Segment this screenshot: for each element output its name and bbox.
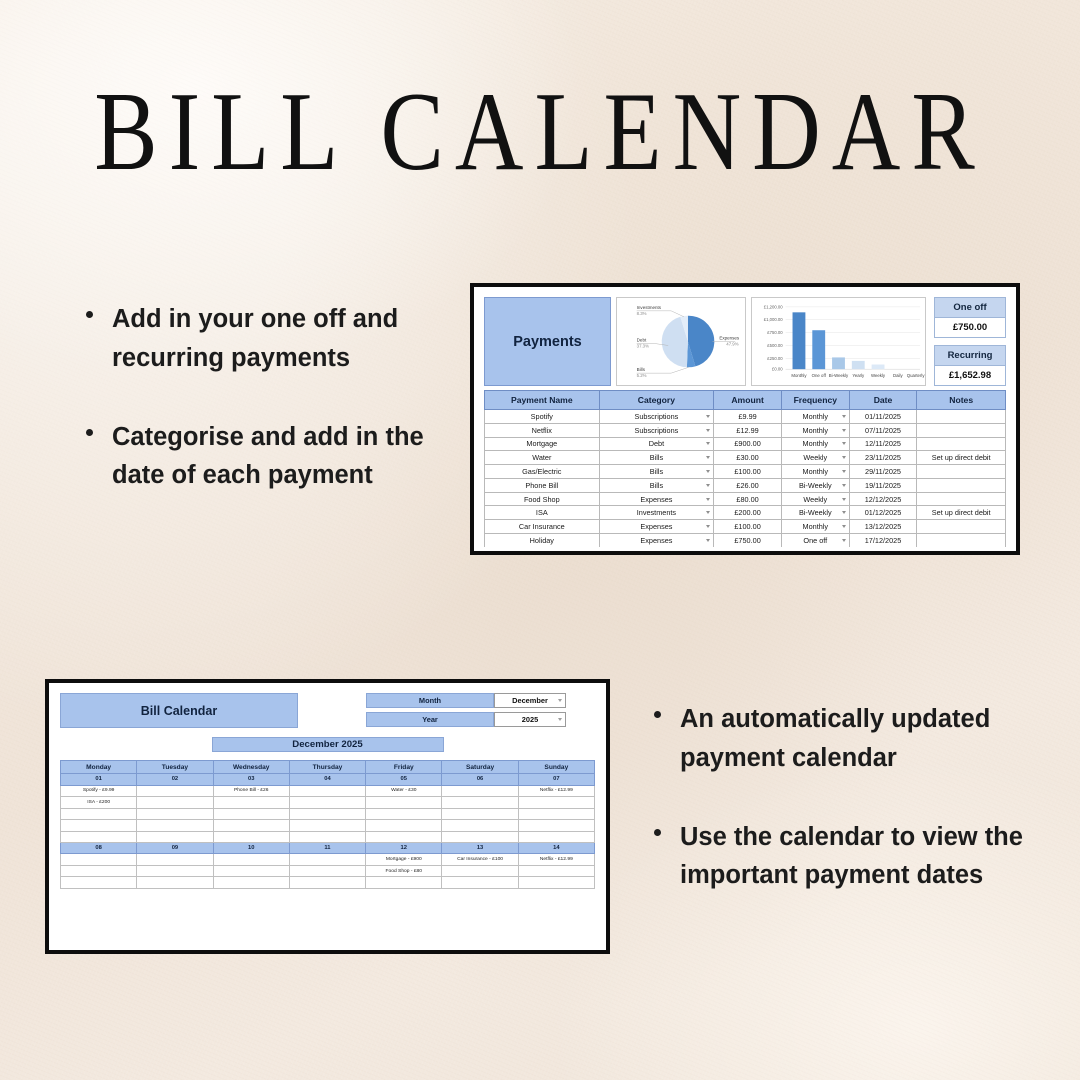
calendar-day-number: 03 (213, 774, 289, 785)
calendar-event-cell[interactable] (289, 865, 365, 877)
calendar-event-row: Spotify - £9.99Phone Bill - £26Water - £… (61, 785, 595, 797)
cell-frequency[interactable]: Monthly (781, 410, 849, 424)
calendar-event-cell[interactable] (366, 831, 442, 843)
payments-pie-chart: Investments 8.3% Debt 37.3% Bills 5.2% E… (616, 297, 746, 386)
kpi-recurring: Recurring £1,652.98 (934, 345, 1006, 386)
calendar-event-cell[interactable] (442, 877, 518, 889)
calendar-day-number: 02 (137, 774, 213, 785)
cell-notes[interactable] (917, 478, 1006, 492)
cell-amount[interactable]: £750.00 (714, 534, 782, 547)
pie-label-investments: Investments (637, 305, 662, 310)
calendar-event-cell[interactable]: ISA - £200 (61, 797, 137, 809)
year-selector-label: Year (366, 712, 494, 727)
calendar-event-cell[interactable] (366, 808, 442, 820)
year-selector[interactable]: Year 2025 (366, 712, 566, 727)
weekday-monday: Monday (61, 761, 137, 774)
calendar-event-cell[interactable] (518, 820, 594, 832)
year-selector-value[interactable]: 2025 (494, 712, 566, 727)
cell-frequency[interactable]: Monthly (781, 520, 849, 534)
weekday-sunday: Sunday (518, 761, 594, 774)
table-row: NetflixSubscriptions£12.99Monthly07/11/2… (485, 423, 1006, 437)
table-row: WaterBills£30.00Weekly23/11/2025Set up d… (485, 451, 1006, 465)
cell-amount[interactable]: £80.00 (714, 492, 782, 506)
cell-category[interactable]: Investments (599, 506, 714, 520)
calendar-event-cell[interactable]: Water - £30 (366, 785, 442, 797)
calendar-event-cell[interactable] (213, 797, 289, 809)
cell-frequency[interactable]: Bi-Weekly (781, 478, 849, 492)
calendar-event-cell[interactable] (137, 797, 213, 809)
calendar-event-row (61, 877, 595, 889)
calendar-event-cell[interactable] (61, 808, 137, 820)
bar-xtick: Daily (893, 373, 903, 378)
cell-payment-name[interactable]: Water (485, 451, 600, 465)
bar-ytick: £500.00 (767, 343, 783, 348)
calendar-event-cell[interactable] (442, 820, 518, 832)
feature-list-right: An automatically updated payment calenda… (648, 700, 1048, 935)
cell-category[interactable]: Expenses (599, 520, 714, 534)
cell-payment-name[interactable]: Netflix (485, 423, 600, 437)
calendar-event-cell[interactable]: Phone Bill - £26 (213, 785, 289, 797)
calendar-day-number: 13 (442, 843, 518, 854)
calendar-event-cell[interactable] (137, 854, 213, 866)
calendar-event-cell[interactable] (442, 808, 518, 820)
cell-category[interactable]: Subscriptions (599, 410, 714, 424)
cell-category[interactable]: Expenses (599, 492, 714, 506)
calendar-event-cell[interactable] (61, 854, 137, 866)
calendar-daynum-row: 08091011121314 (61, 843, 595, 854)
calendar-event-cell[interactable] (518, 831, 594, 843)
bullet-item: Use the calendar to view the important p… (648, 818, 1048, 896)
calendar-event-cell[interactable] (366, 797, 442, 809)
calendar-event-cell[interactable] (442, 785, 518, 797)
calendar-event-cell[interactable]: Spotify - £9.99 (61, 785, 137, 797)
calendar-day-number: 08 (61, 843, 137, 854)
calendar-event-cell[interactable] (442, 831, 518, 843)
calendar-day-number: 12 (366, 843, 442, 854)
cell-amount[interactable]: £12.99 (714, 423, 782, 437)
cell-amount[interactable]: £100.00 (714, 520, 782, 534)
calendar-event-cell[interactable] (366, 877, 442, 889)
payments-title-cell: Payments (484, 297, 611, 386)
cell-payment-name[interactable]: Spotify (485, 410, 600, 424)
calendar-event-cell[interactable]: Netflix - £12.99 (518, 785, 594, 797)
bar-xtick: Bi-Weekly (829, 373, 849, 378)
bar-xtick: Yearly (852, 373, 865, 378)
calendar-event-row: ISA - £200 (61, 797, 595, 809)
calendar-event-row: Mortgage - £900Car Insurance - £100Netfl… (61, 854, 595, 866)
column-header-date[interactable]: Date (849, 391, 917, 410)
cell-frequency[interactable]: Monthly (781, 423, 849, 437)
cell-notes[interactable] (917, 423, 1006, 437)
pie-label-expenses: Expenses (719, 336, 740, 341)
cell-frequency[interactable]: One off (781, 534, 849, 547)
cell-notes[interactable]: Set up direct debit (917, 506, 1006, 520)
month-selector-label: Month (366, 693, 494, 708)
bar-xtick: Quarterly (907, 373, 925, 378)
cell-notes[interactable] (917, 465, 1006, 479)
kpi-recurring-label: Recurring (935, 346, 1005, 366)
cell-payment-name[interactable]: Holiday (485, 534, 600, 547)
pie-label-debt: Debt (637, 337, 647, 342)
cell-payment-name[interactable]: Food Shop (485, 492, 600, 506)
pie-pct-bills: 5.2% (637, 373, 647, 378)
cell-date[interactable]: 29/11/2025 (849, 465, 917, 479)
cell-date[interactable]: 17/12/2025 (849, 534, 917, 547)
cell-category[interactable]: Expenses (599, 534, 714, 547)
cell-date[interactable]: 12/11/2025 (849, 437, 917, 451)
bar-xtick: One off (812, 373, 827, 378)
weekday-header-row: Monday Tuesday Wednesday Thursday Friday… (61, 761, 595, 774)
table-row: SpotifySubscriptions£9.99Monthly01/11/20… (485, 410, 1006, 424)
column-header-payment-name[interactable]: Payment Name (485, 391, 600, 410)
calendar-event-cell[interactable] (213, 865, 289, 877)
cell-amount[interactable]: £30.00 (714, 451, 782, 465)
pie-label-bills: Bills (637, 367, 646, 372)
calendar-selectors: Month December Year 2025 (366, 693, 566, 727)
bar-xtick: Monthly (791, 373, 807, 378)
kpi-recurring-value: £1,652.98 (935, 366, 1005, 385)
calendar-event-cell[interactable] (518, 865, 594, 877)
table-row: MortgageDebt£900.00Monthly12/11/2025 (485, 437, 1006, 451)
calendar-day-number: 06 (442, 774, 518, 785)
cell-category[interactable]: Bills (599, 478, 714, 492)
calendar-day-number: 11 (289, 843, 365, 854)
payments-kpi-column: One off £750.00 Recurring £1,652.98 (931, 297, 1006, 386)
weekday-friday: Friday (366, 761, 442, 774)
bullet-item: Categorise and add in the date of each p… (80, 418, 480, 496)
payments-spreadsheet-screenshot: Payments I (470, 283, 1020, 555)
page-title: BILL CALENDAR (0, 76, 1080, 188)
calendar-event-cell[interactable] (289, 797, 365, 809)
bar-oneoff (812, 330, 825, 369)
calendar-event-cell[interactable]: Food Shop - £80 (366, 865, 442, 877)
cell-frequency[interactable]: Bi-Weekly (781, 506, 849, 520)
column-header-notes[interactable]: Notes (917, 391, 1006, 410)
bar-ytick: £1,200.00 (764, 304, 784, 309)
bar-weekly (872, 365, 885, 370)
bar-xtick: Weekly (871, 373, 886, 378)
cell-amount[interactable]: £26.00 (714, 478, 782, 492)
bullet-item: An automatically updated payment calenda… (648, 700, 1048, 778)
calendar-event-cell[interactable] (289, 831, 365, 843)
pie-pct-investments: 8.3% (637, 311, 647, 316)
calendar-day-number: 01 (61, 774, 137, 785)
payments-bar-chart: £1,200.00 £1,000.00 £750.00 £500.00 £250… (751, 297, 926, 386)
month-banner: December 2025 (212, 737, 444, 752)
cell-frequency[interactable]: Monthly (781, 465, 849, 479)
weekday-saturday: Saturday (442, 761, 518, 774)
bar-yearly (852, 361, 865, 369)
calendar-event-row (61, 831, 595, 843)
calendar-event-row (61, 808, 595, 820)
cell-notes[interactable]: Set up direct debit (917, 451, 1006, 465)
table-header-row: Payment Name Category Amount Frequency D… (485, 391, 1006, 410)
cell-notes[interactable] (917, 492, 1006, 506)
bar-chart-svg: £1,200.00 £1,000.00 £750.00 £500.00 £250… (752, 298, 925, 385)
cell-category[interactable]: Bills (599, 451, 714, 465)
cell-payment-name[interactable]: Phone Bill (485, 478, 600, 492)
cell-category[interactable]: Debt (599, 437, 714, 451)
calendar-event-cell[interactable] (137, 808, 213, 820)
bar-monthly (793, 312, 806, 369)
calendar-event-cell[interactable] (137, 820, 213, 832)
bar-ytick: £250.00 (767, 356, 783, 361)
calendar-title-cell: Bill Calendar (60, 693, 298, 728)
calendar-event-cell[interactable] (366, 820, 442, 832)
column-header-category[interactable]: Category (599, 391, 714, 410)
month-selector-value[interactable]: December (494, 693, 566, 708)
cell-notes[interactable] (917, 534, 1006, 547)
column-header-frequency[interactable]: Frequency (781, 391, 849, 410)
cell-date[interactable]: 19/11/2025 (849, 478, 917, 492)
pie-chart-svg: Investments 8.3% Debt 37.3% Bills 5.2% E… (617, 298, 745, 385)
calendar-event-cell[interactable] (518, 797, 594, 809)
bar-ytick: £0.00 (772, 367, 783, 372)
cell-date[interactable]: 07/11/2025 (849, 423, 917, 437)
calendar-event-cell[interactable] (137, 865, 213, 877)
cell-date[interactable]: 12/12/2025 (849, 492, 917, 506)
cell-notes[interactable] (917, 520, 1006, 534)
calendar-event-cell[interactable] (137, 831, 213, 843)
calendar-day-number: 10 (213, 843, 289, 854)
cell-date[interactable]: 23/11/2025 (849, 451, 917, 465)
column-header-amount[interactable]: Amount (714, 391, 782, 410)
payments-dashboard-row: Payments I (478, 291, 1012, 390)
cell-notes[interactable] (917, 437, 1006, 451)
cell-frequency[interactable]: Weekly (781, 492, 849, 506)
calendar-event-cell[interactable] (289, 808, 365, 820)
calendar-event-cell[interactable] (213, 854, 289, 866)
kpi-one-off-value: £750.00 (935, 318, 1005, 337)
calendar-day-number: 14 (518, 843, 594, 854)
table-row: HolidayExpenses£750.00One off17/12/2025 (485, 534, 1006, 547)
calendar-event-cell[interactable] (442, 797, 518, 809)
calendar-event-row: Food Shop - £80 (61, 865, 595, 877)
table-row: Gas/ElectricBills£100.00Monthly29/11/202… (485, 465, 1006, 479)
cell-category[interactable]: Subscriptions (599, 423, 714, 437)
pie-pct-debt: 37.3% (637, 343, 649, 348)
calendar-event-cell[interactable] (61, 820, 137, 832)
calendar-event-cell[interactable]: Netflix - £12.99 (518, 854, 594, 866)
cell-amount[interactable]: £100.00 (714, 465, 782, 479)
calendar-event-cell[interactable] (213, 831, 289, 843)
cell-payment-name[interactable]: Car Insurance (485, 520, 600, 534)
table-row: ISAInvestments£200.00Bi-Weekly01/12/2025… (485, 506, 1006, 520)
calendar-daynum-row: 01020304050607 (61, 774, 595, 785)
cell-amount[interactable]: £200.00 (714, 506, 782, 520)
cell-frequency[interactable]: Weekly (781, 451, 849, 465)
cell-amount[interactable]: £9.99 (714, 410, 782, 424)
calendar-event-cell[interactable] (137, 785, 213, 797)
calendar-event-row (61, 820, 595, 832)
calendar-event-cell[interactable] (213, 820, 289, 832)
calendar-event-cell[interactable]: Car Insurance - £100 (442, 854, 518, 866)
calendar-event-cell[interactable] (289, 854, 365, 866)
weekday-wednesday: Wednesday (213, 761, 289, 774)
calendar-event-cell[interactable] (289, 785, 365, 797)
cell-date[interactable]: 13/12/2025 (849, 520, 917, 534)
calendar-event-cell[interactable] (61, 831, 137, 843)
calendar-event-cell[interactable] (442, 865, 518, 877)
table-row: Phone BillBills£26.00Bi-Weekly19/11/2025 (485, 478, 1006, 492)
pie-pct-expenses: 47.9% (726, 341, 738, 346)
calendar-event-cell[interactable] (137, 877, 213, 889)
calendar-event-cell[interactable] (61, 865, 137, 877)
calendar-day-number: 07 (518, 774, 594, 785)
calendar-event-cell[interactable] (213, 808, 289, 820)
calendar-event-cell[interactable] (289, 820, 365, 832)
bar-ytick: £1,000.00 (764, 317, 784, 322)
cell-category[interactable]: Bills (599, 465, 714, 479)
cell-date[interactable]: 01/11/2025 (849, 410, 917, 424)
weekday-thursday: Thursday (289, 761, 365, 774)
calendar-event-cell[interactable] (518, 808, 594, 820)
cell-date[interactable]: 01/12/2025 (849, 506, 917, 520)
kpi-one-off: One off £750.00 (934, 297, 1006, 338)
bar-biweekly (832, 357, 845, 369)
calendar-day-number: 04 (289, 774, 365, 785)
bar-ytick: £750.00 (767, 330, 783, 335)
cell-payment-name[interactable]: Gas/Electric (485, 465, 600, 479)
cell-notes[interactable] (917, 410, 1006, 424)
calendar-event-cell[interactable] (213, 877, 289, 889)
calendar-event-cell[interactable] (61, 877, 137, 889)
bullet-item: Add in your one off and recurring paymen… (80, 300, 480, 378)
month-selector[interactable]: Month December (366, 693, 566, 708)
cell-payment-name[interactable]: ISA (485, 506, 600, 520)
bill-calendar-screenshot: Bill Calendar Month December Year 2025 D… (45, 679, 610, 954)
cell-payment-name[interactable]: Mortgage (485, 437, 600, 451)
table-row: Car InsuranceExpenses£100.00Monthly13/12… (485, 520, 1006, 534)
cell-frequency[interactable]: Monthly (781, 437, 849, 451)
calendar-table: Monday Tuesday Wednesday Thursday Friday… (60, 760, 595, 889)
feature-list-left: Add in your one off and recurring paymen… (80, 300, 480, 535)
table-row: Food ShopExpenses£80.00Weekly12/12/2025 (485, 492, 1006, 506)
calendar-day-number: 05 (366, 774, 442, 785)
calendar-event-cell[interactable] (518, 877, 594, 889)
kpi-one-off-label: One off (935, 298, 1005, 318)
calendar-header: Bill Calendar Month December Year 2025 (60, 693, 595, 728)
calendar-event-cell[interactable] (289, 877, 365, 889)
calendar-event-cell[interactable]: Mortgage - £900 (366, 854, 442, 866)
calendar-day-number: 09 (137, 843, 213, 854)
cell-amount[interactable]: £900.00 (714, 437, 782, 451)
payments-table: Payment Name Category Amount Frequency D… (484, 390, 1006, 547)
weekday-tuesday: Tuesday (137, 761, 213, 774)
